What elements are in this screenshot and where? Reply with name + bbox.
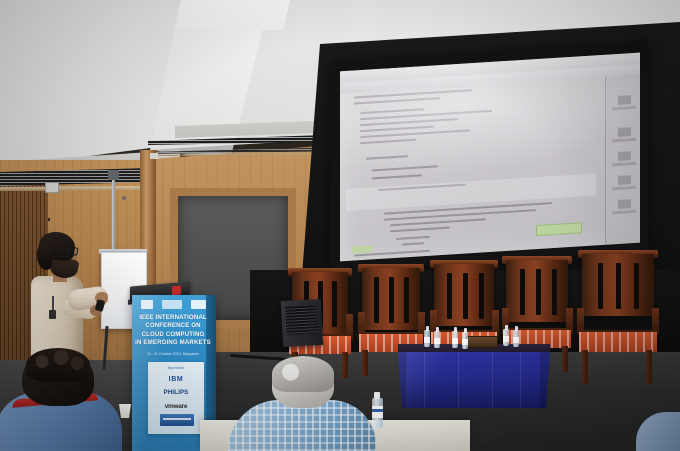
banner-title-line-4: IN EMERGING MARKETS: [134, 339, 212, 347]
sponsor-logo-badge: [160, 414, 194, 426]
sponsor-logo-vmware: vmware: [148, 403, 204, 410]
projector-glare: [340, 53, 640, 183]
flipchart-clamp: [108, 170, 119, 180]
water-bottle: [513, 330, 519, 347]
water-bottle-label: [372, 406, 383, 418]
water-bottle: [424, 330, 430, 347]
banner-logo-row: [136, 297, 210, 311]
eyeglasses-bridge: [66, 249, 69, 251]
laptop-sticker: [172, 286, 181, 296]
conference-hall-photo: IEEE INTERNATIONAL CONFERENCE ON CLOUD C…: [0, 0, 680, 451]
banner-title: IEEE INTERNATIONAL CONFERENCE ON CLOUD C…: [134, 314, 212, 348]
ceiling-downlight-icon: [122, 196, 126, 200]
head-table-drape: [396, 352, 552, 408]
water-bottle: [462, 332, 468, 349]
ceiling-skylight: [175, 0, 290, 30]
banner-date-line: 19 - 21 October 2014, Bangalore: [134, 352, 212, 357]
water-bottle: [434, 331, 440, 348]
ieee-logo: [191, 300, 206, 309]
name-plaque: [466, 336, 498, 348]
sponsors-label: Sponsors: [148, 366, 204, 370]
sponsor-logo-philips: PHILIPS: [148, 390, 204, 396]
ieee-computer-society-logo: [141, 300, 153, 309]
stage-chair-4: [506, 260, 568, 328]
banner-title-line-3: CLOUD COMPUTING: [134, 331, 212, 339]
water-bottle-label-stripe: [372, 409, 383, 412]
water-bottle-cap: [374, 392, 380, 399]
projection-screen: [340, 53, 640, 262]
audience-left-hair: [26, 348, 90, 382]
audience-center-hair: [272, 356, 334, 392]
wall-switch-plate: [45, 182, 59, 193]
speaker-badge: [49, 310, 56, 319]
stage-chair-5: [582, 254, 654, 330]
eyeglasses-lens-right: [67, 246, 78, 256]
stage-chair-2: [362, 268, 420, 332]
speaker-badge-lanyard: [52, 296, 54, 311]
wall-fixture-plate: [150, 153, 158, 159]
slide-status-badge: [352, 245, 372, 253]
water-bottle: [452, 331, 458, 348]
conference-logo: [162, 300, 182, 309]
sponsor-logo-ibm: IBM: [148, 376, 204, 383]
speaker-grille-icon: [285, 305, 317, 335]
stage-chair-3: [434, 264, 494, 330]
flipchart-pole: [112, 176, 115, 256]
sponsor-logo-badge-text: [163, 418, 191, 420]
banner-title-line-2: CONFERENCE ON: [134, 322, 212, 330]
water-bottle: [503, 329, 509, 346]
